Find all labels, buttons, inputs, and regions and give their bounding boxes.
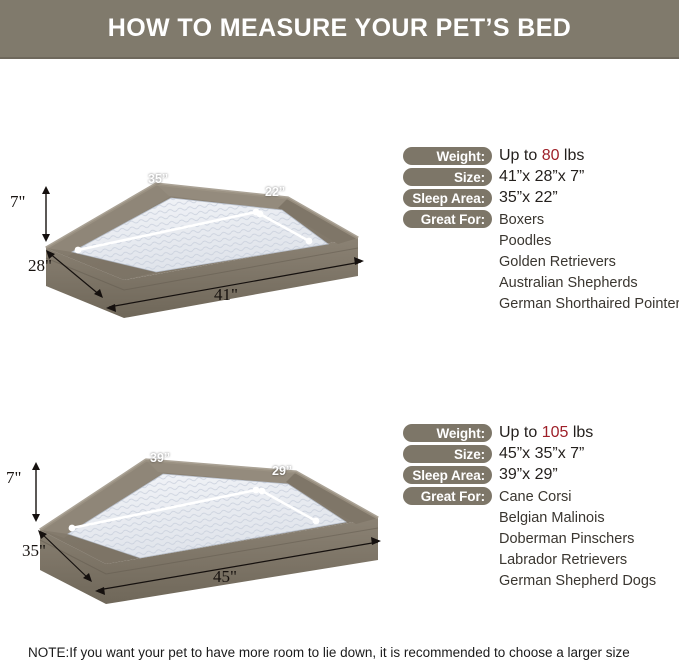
value-weight: Up to 80 lbs [499, 147, 584, 165]
list-item: Boxers [499, 210, 679, 231]
weight-value: 105 [542, 424, 569, 441]
spec-row-size: Size: 45”x 35”x 7” [403, 445, 593, 466]
bed-illustration-xlarge [6, 418, 406, 618]
weight-prefix: Up to [499, 147, 542, 164]
spec-row-sleep-area: Sleep Area: 35”x 22” [403, 189, 584, 210]
dim-sleep-width-large: 35” [148, 172, 168, 186]
label-size: Size: [403, 445, 492, 463]
breed-list-large: Boxers Poodles Golden Retrievers Austral… [499, 210, 679, 315]
value-size: 41”x 28”x 7” [499, 168, 584, 186]
footer-note: NOTE:If you want your pet to have more r… [28, 645, 630, 660]
value-weight: Up to 105 lbs [499, 424, 593, 442]
dim-height-xlarge: 7" [6, 468, 21, 488]
label-weight: Weight: [403, 424, 492, 442]
page-title: HOW TO MEASURE YOUR PET’S BED [108, 14, 572, 43]
weight-suffix: lbs [568, 424, 593, 441]
label-great-for: Great For: [403, 210, 492, 228]
dim-width-xlarge: 45" [213, 567, 237, 587]
dim-width-large: 41" [214, 285, 238, 305]
header-bar: HOW TO MEASURE YOUR PET’S BED [0, 0, 679, 59]
list-item: German Shepherd Dogs [499, 571, 656, 592]
list-item: Doberman Pinschers [499, 529, 656, 550]
bed-svg-large [6, 140, 406, 330]
dim-sleep-depth-xlarge: 29” [272, 464, 292, 478]
weight-value: 80 [542, 147, 560, 164]
spec-row-sleep-area: Sleep Area: 39”x 29” [403, 466, 593, 487]
value-sleep-area: 39”x 29” [499, 466, 558, 484]
spec-row-weight: Weight: Up to 105 lbs [403, 424, 593, 445]
breed-list-xlarge: Cane Corsi Belgian Malinois Doberman Pin… [499, 487, 656, 592]
dim-sleep-width-xlarge: 39” [150, 451, 170, 465]
spec-row-weight: Weight: Up to 80 lbs [403, 147, 584, 168]
dim-height-large: 7" [10, 192, 25, 212]
list-item: Australian Shepherds [499, 273, 679, 294]
label-size: Size: [403, 168, 492, 186]
value-sleep-area: 35”x 22” [499, 189, 558, 207]
list-item: Belgian Malinois [499, 508, 656, 529]
value-size: 45”x 35”x 7” [499, 445, 584, 463]
dim-sleep-depth-large: 22” [265, 185, 285, 199]
label-weight: Weight: [403, 147, 492, 165]
label-sleep-area: Sleep Area: [403, 466, 492, 484]
list-item: Poodles [499, 231, 679, 252]
label-great-for: Great For: [403, 487, 492, 505]
bed-svg-xlarge [6, 418, 406, 618]
list-item: Golden Retrievers [499, 252, 679, 273]
list-item: Labrador Retrievers [499, 550, 656, 571]
list-item: Cane Corsi [499, 487, 656, 508]
dim-depth-xlarge: 35" [22, 541, 46, 561]
dim-depth-large: 28" [28, 256, 52, 276]
weight-prefix: Up to [499, 424, 542, 441]
bed-illustration-large [6, 140, 406, 330]
label-sleep-area: Sleep Area: [403, 189, 492, 207]
spec-row-size: Size: 41”x 28”x 7” [403, 168, 584, 189]
list-item: German Shorthaired Pointers [499, 294, 679, 315]
weight-suffix: lbs [559, 147, 584, 164]
